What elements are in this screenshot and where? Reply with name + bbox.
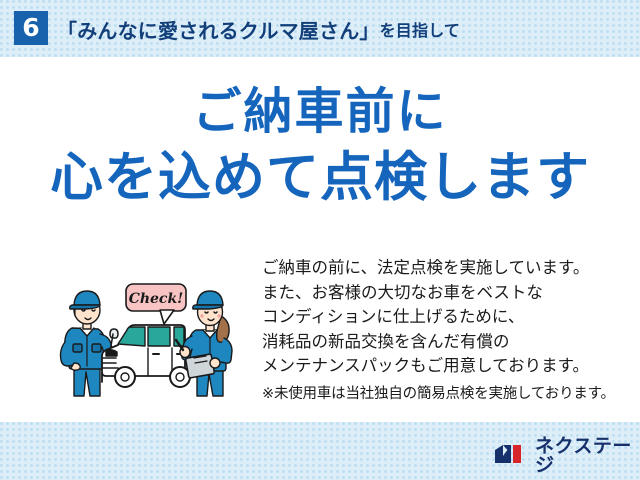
nextage-n-logo-icon: [494, 442, 528, 471]
mechanics-illustration: Check!: [56, 272, 248, 400]
header-title-main: 「みんなに愛されるクルマ屋さん」: [57, 15, 380, 44]
male-mechanic-figure: [61, 291, 119, 396]
body-line-5: メンテナンスパックもご用意しております。: [262, 354, 622, 379]
brand-name: ネクステージ: [535, 437, 640, 475]
header-step-badge: 6: [14, 11, 48, 45]
body-line-4: 消耗品の新品交換を含んだ有償の: [262, 330, 622, 355]
check-speech-bubble: Check!: [126, 284, 186, 324]
body-line-2: また、お客様の大切なお車をベストな: [262, 281, 622, 306]
headline-line-1: ご納車前に: [0, 88, 640, 137]
brand-logo: ネクステージ: [494, 441, 640, 471]
header-title-sub: を目指して: [380, 17, 461, 41]
body-line-1: ご納車の前に、法定点検を実施しています。: [262, 256, 622, 281]
body-line-3: コンディションに仕上げるために、: [262, 305, 622, 330]
headline-line-2: 心を込めて点検します: [0, 151, 640, 204]
body-text-block: ご納車の前に、法定点検を実施しています。 また、お客様の大切なお車をベストな コ…: [262, 256, 622, 406]
svg-text:Check!: Check!: [129, 291, 184, 307]
ad-banner-page: 6 「みんなに愛されるクルマ屋さん」を目指して ご納車前に 心を込めて点検します…: [0, 0, 640, 480]
headline: ご納車前に 心を込めて点検します: [0, 88, 640, 204]
header-title: 「みんなに愛されるクルマ屋さん」を目指して: [57, 14, 460, 44]
body-footnote: ※未使用車は当社独自の簡易点検を実施しております。: [262, 382, 622, 407]
